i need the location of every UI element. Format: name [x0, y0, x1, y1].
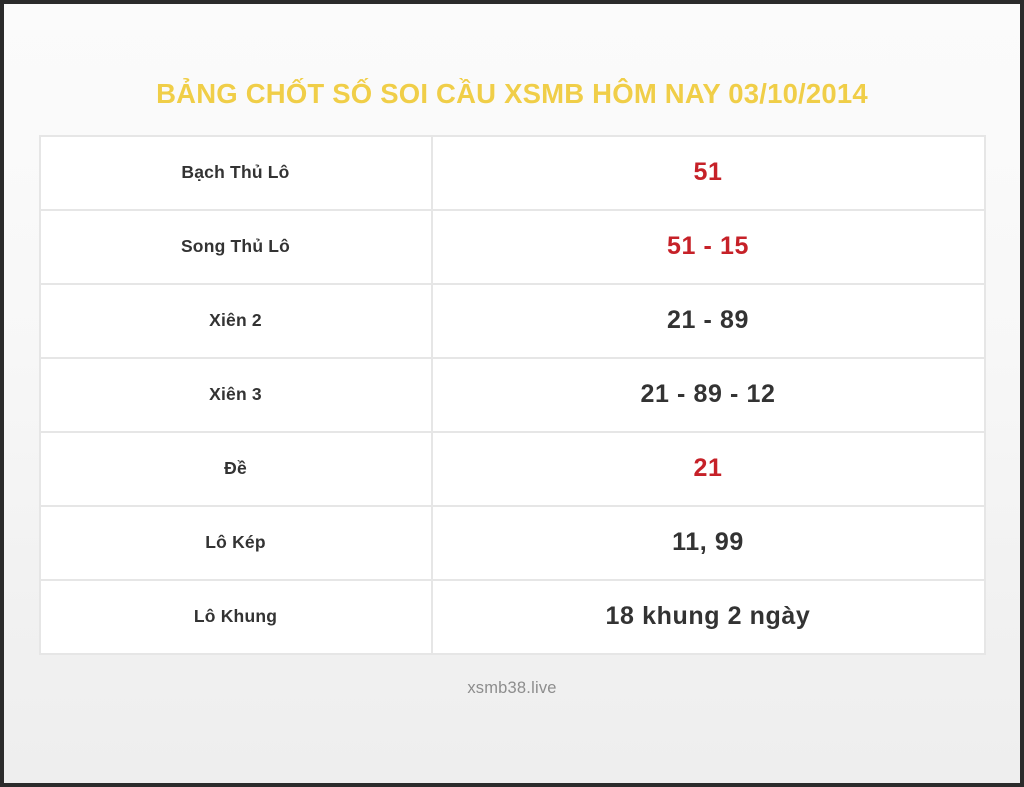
- table-row: Xiên 3 21 - 89 - 12: [40, 358, 985, 432]
- site-watermark: xsmb38.live: [4, 679, 1020, 698]
- bet-type-label: Lô Kép: [40, 506, 432, 580]
- bet-type-label: Song Thủ Lô: [40, 210, 432, 284]
- table-row: Lô Khung 18 khung 2 ngày: [40, 580, 985, 654]
- bet-value: 11, 99: [432, 506, 985, 580]
- prediction-table-wrapper: Bạch Thủ Lô 51 Song Thủ Lô 51 - 15 Xiên …: [39, 135, 986, 655]
- card-content: BẢNG CHỐT SỐ SOI CẦU XSMB HÔM NAY 03/10/…: [4, 4, 1020, 783]
- bet-value: 21: [432, 432, 985, 506]
- table-row: Lô Kép 11, 99: [40, 506, 985, 580]
- table-row: Đề 21: [40, 432, 985, 506]
- bet-value: 21 - 89: [432, 284, 985, 358]
- bet-type-label: Lô Khung: [40, 580, 432, 654]
- bet-value: 51 - 15: [432, 210, 985, 284]
- bet-value: 51: [432, 136, 985, 210]
- page-title: BẢNG CHỐT SỐ SOI CẦU XSMB HÔM NAY 03/10/…: [4, 4, 1020, 110]
- table-row: Song Thủ Lô 51 - 15: [40, 210, 985, 284]
- bet-type-label: Xiên 3: [40, 358, 432, 432]
- table-row: Xiên 2 21 - 89: [40, 284, 985, 358]
- lottery-prediction-card: BẢNG CHỐT SỐ SOI CẦU XSMB HÔM NAY 03/10/…: [0, 0, 1024, 787]
- bet-type-label: Bạch Thủ Lô: [40, 136, 432, 210]
- bet-value: 21 - 89 - 12: [432, 358, 985, 432]
- bet-type-label: Đề: [40, 432, 432, 506]
- prediction-table: Bạch Thủ Lô 51 Song Thủ Lô 51 - 15 Xiên …: [39, 135, 986, 655]
- table-row: Bạch Thủ Lô 51: [40, 136, 985, 210]
- bet-type-label: Xiên 2: [40, 284, 432, 358]
- prediction-table-body: Bạch Thủ Lô 51 Song Thủ Lô 51 - 15 Xiên …: [40, 136, 985, 654]
- bet-value: 18 khung 2 ngày: [432, 580, 985, 654]
